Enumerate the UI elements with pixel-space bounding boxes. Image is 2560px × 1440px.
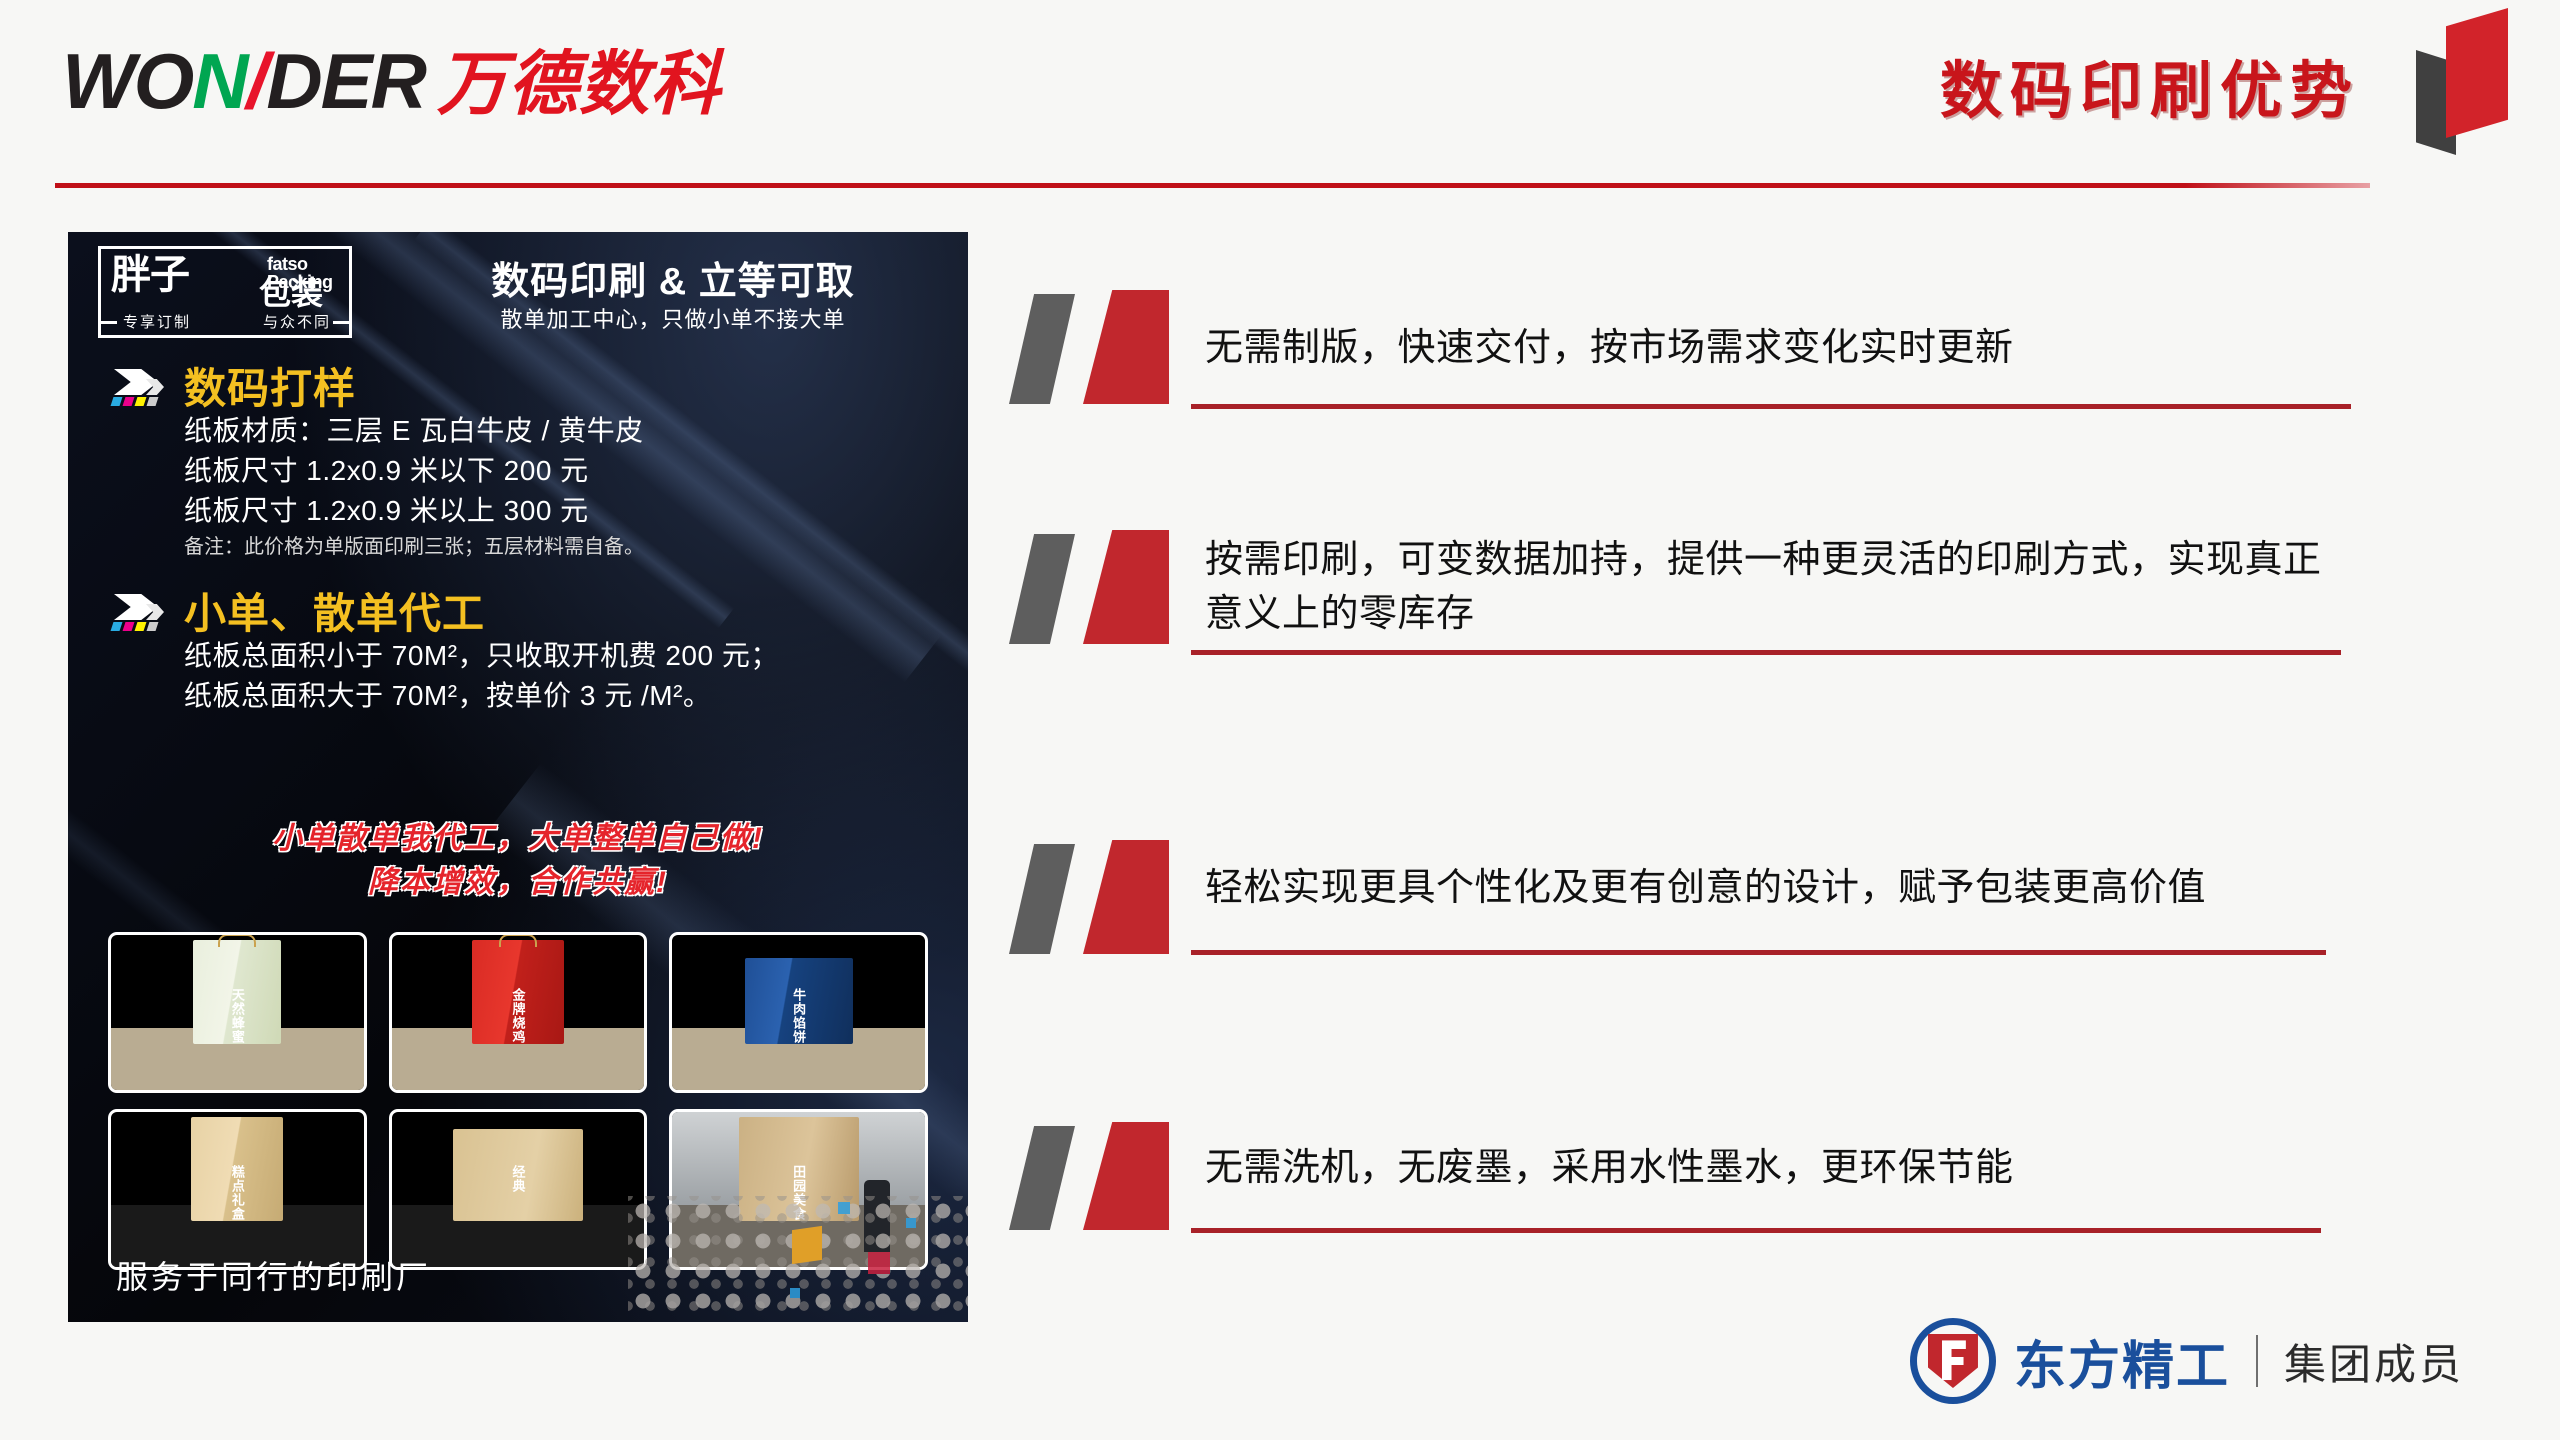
product-label: 牛肉馅饼	[789, 988, 808, 1044]
section-line: 纸板总面积大于 70M²，按单价 3 元 /M²。	[184, 676, 940, 716]
fatso-logo-rule-left	[101, 321, 117, 324]
footer-divider	[2256, 1335, 2258, 1387]
advantage-underline	[1191, 650, 2341, 655]
cmyk-dots-icon	[112, 622, 157, 631]
halftone-dots-decoration	[628, 1196, 968, 1316]
product-label: 糕点礼盒	[228, 1165, 247, 1221]
chevron-arrow-icon	[110, 367, 176, 411]
poster-subheadline: 散单加工中心，只做小单不接大单	[398, 302, 948, 334]
poster-section-small-batch-oem: 小单、散单代工 纸板总面积小于 70M²，只收取开机费 200 元； 纸板总面积…	[110, 592, 940, 716]
bullet-marker-gray	[1009, 294, 1075, 404]
section-line: 纸板材质：三层 E 瓦白牛皮 / 黄牛皮	[184, 411, 940, 451]
advantage-underline	[1191, 950, 2326, 955]
product-label: 天然蜂蜜	[228, 988, 247, 1044]
bullet-marker-red	[1083, 1122, 1169, 1230]
poster-section-digital-proofing: 数码打样 纸板材质：三层 E 瓦白牛皮 / 黄牛皮 纸板尺寸 1.2x0.9 米…	[110, 367, 940, 561]
poster-caption: 服务于同行的印刷厂	[116, 1252, 431, 1298]
poster-slogan-line2: 降本增效，合作共赢!	[68, 861, 968, 905]
section-title: 数码打样	[184, 368, 356, 410]
bullet-marker-icon	[1005, 1122, 1205, 1240]
bullet-marker-red	[1083, 290, 1169, 404]
dongfang-emblem-icon	[1910, 1318, 1996, 1404]
fatso-logo-cn: 胖子	[111, 255, 189, 295]
fatso-packing-logo: 胖子 fatso Packing 包装 专享订制 与众不同	[98, 246, 352, 338]
box-handle	[499, 934, 537, 947]
advantage-text: 按需印刷，可变数据加持，提供一种更灵活的印刷方式，实现真正意义上的零库存	[1205, 534, 2355, 642]
bullet-marker-gray	[1009, 534, 1075, 644]
corner-decoration-icon	[2416, 8, 2512, 158]
brand-wordmark-n-green: N	[192, 37, 246, 125]
cmyk-dot-yellow	[135, 397, 147, 406]
fatso-logo-rule-right	[333, 321, 349, 324]
section-line: 纸板尺寸 1.2x0.9 米以下 200 元	[184, 451, 940, 491]
advantage-text: 轻松实现更具个性化及更有创意的设计，赋予包装更高价值	[1205, 862, 2355, 916]
halftone-cyan-square	[906, 1218, 916, 1228]
poster-header: 胖子 fatso Packing 包装 专享订制 与众不同 数码印刷 & 立等可…	[68, 232, 968, 350]
cmyk-dot-key	[147, 622, 159, 631]
footer-company-name: 东方精工	[2014, 1324, 2230, 1399]
product-label: 经典	[508, 1165, 527, 1193]
section-line: 纸板尺寸 1.2x0.9 米以上 300 元	[184, 491, 940, 531]
section-title-row: 小单、散单代工	[110, 592, 940, 636]
poster-headline: 数码印刷 & 立等可取	[398, 250, 948, 305]
advantage-text: 无需洗机，无废墨，采用水性墨水，更环保节能	[1205, 1142, 2355, 1196]
fatso-tagline-left: 专享订制	[123, 311, 191, 332]
brand-wordmark-slash-red: /	[247, 37, 267, 125]
cmyk-dot-cyan	[111, 622, 123, 631]
advantage-underline	[1191, 404, 2351, 409]
bullet-marker-icon	[1005, 840, 1205, 958]
cmyk-dot-magenta	[123, 622, 135, 631]
footer-member-label: 集团成员	[2284, 1331, 2464, 1392]
brand-chinese-name: 万德数科	[437, 49, 721, 119]
cmyk-dot-magenta	[123, 397, 135, 406]
promo-poster-image: 胖子 fatso Packing 包装 专享订制 与众不同 数码印刷 & 立等可…	[68, 232, 968, 1322]
box-handle	[218, 934, 256, 947]
bullet-marker-gray	[1009, 844, 1075, 954]
halftone-cyan-square	[838, 1202, 850, 1214]
brand-wordmark-part2: DER	[266, 37, 425, 125]
bullet-marker-icon	[1005, 530, 1205, 648]
section-line: 纸板总面积小于 70M²，只收取开机费 200 元；	[184, 636, 940, 676]
brand-wordmark-part1: WO	[62, 37, 192, 125]
fatso-tagline-right: 与众不同	[263, 311, 331, 332]
corner-red-shape	[2446, 8, 2508, 138]
fatso-logo-cn-sub: 包装	[259, 277, 323, 309]
product-photo: 牛肉馅饼	[669, 932, 928, 1093]
cmyk-dot-cyan	[111, 397, 123, 406]
footer-group-logo: 东方精工 集团成员	[1910, 1318, 2464, 1404]
product-photo: 天然蜂蜜	[108, 932, 367, 1093]
chevron-arrow-icon	[110, 592, 176, 636]
section-note: 备注：此价格为单版面印刷三张；五层材料需自备。	[184, 533, 940, 561]
bullet-marker-icon	[1005, 290, 1205, 408]
bullet-marker-red	[1083, 530, 1169, 644]
poster-slogan: 小单散单我代工，大单整单自己做! 降本增效，合作共赢!	[68, 817, 968, 904]
header-divider	[55, 183, 2370, 188]
section-title: 小单、散单代工	[184, 593, 485, 635]
section-title-row: 数码打样	[110, 367, 940, 411]
bullet-marker-red	[1083, 840, 1169, 954]
brand-wordmark: WON/DER	[62, 42, 425, 120]
product-photo: 经典	[389, 1109, 648, 1270]
bullet-marker-gray	[1009, 1126, 1075, 1230]
advantage-underline	[1191, 1228, 2321, 1233]
halftone-magenta-square	[868, 1252, 890, 1274]
cmyk-dot-yellow	[135, 622, 147, 631]
product-photo: 糕点礼盒	[108, 1109, 367, 1270]
advantage-text: 无需制版，快速交付，按市场需求变化实时更新	[1205, 322, 2355, 376]
halftone-yellow-shape	[792, 1226, 822, 1264]
cmyk-dot-key	[147, 397, 159, 406]
poster-slogan-line1: 小单散单我代工，大单整单自己做!	[68, 817, 968, 861]
wonder-brand-logo: WON/DER 万德数科	[62, 42, 721, 120]
slide-header: WON/DER 万德数科 数码印刷优势	[0, 0, 2560, 200]
product-label: 金牌烧鸡	[508, 988, 527, 1044]
halftone-cyan-square	[790, 1288, 800, 1298]
cmyk-dots-icon	[112, 397, 157, 406]
product-photo: 金牌烧鸡	[389, 932, 648, 1093]
page-title: 数码印刷优势	[1940, 40, 2360, 130]
